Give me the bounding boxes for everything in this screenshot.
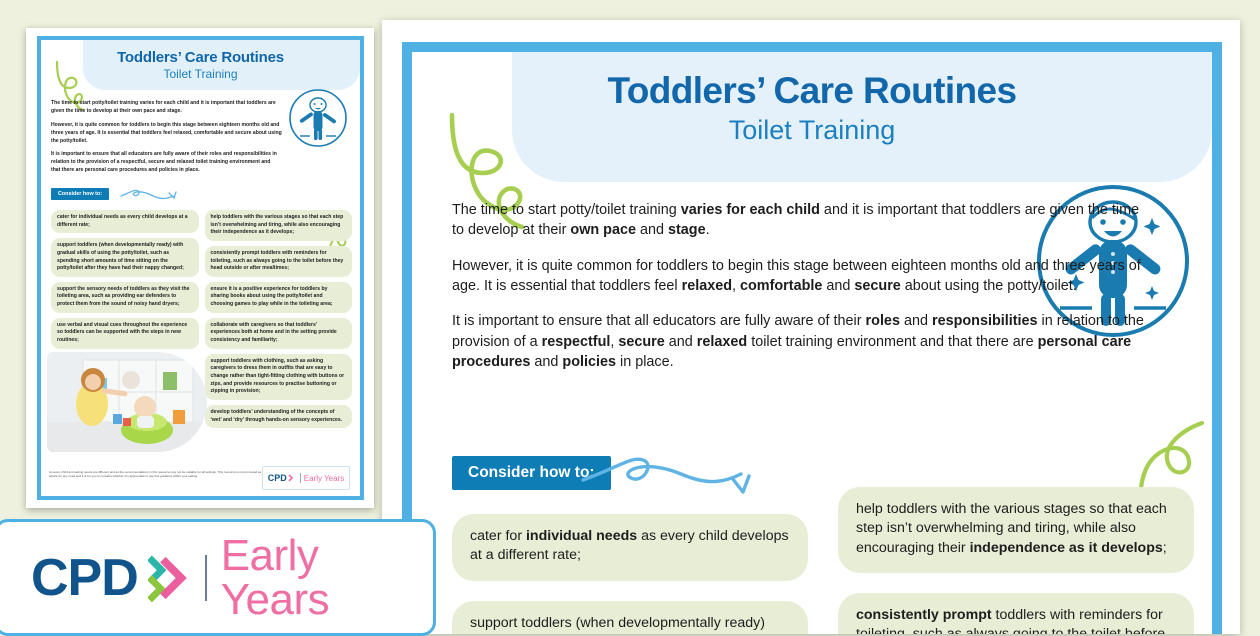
consider-card: support toddlers (when developmentally r… <box>452 601 808 634</box>
consider-card: cater for individual needs as every chil… <box>452 514 808 581</box>
consider-card: consistently prompt toddlers with remind… <box>205 246 353 277</box>
cards-columns: cater for individual needs as every chil… <box>452 514 1194 634</box>
body-text: The time to start potty/toilet training … <box>452 200 1142 387</box>
logo-early-years-text: Early Years <box>221 534 433 622</box>
thumbnail-logo-ey: Early Years <box>304 474 344 483</box>
thumbnail-disclaimer: As every child and setting needs are dif… <box>49 470 269 479</box>
thumbnail-body-text: The time to start potty/toilet training … <box>51 100 287 181</box>
consider-card: support toddlers with clothing, such as … <box>205 354 353 400</box>
chevron-logo-icon <box>148 552 195 604</box>
chevron-logo-icon <box>287 473 297 483</box>
document-thumbnail-panel[interactable]: Toddlers’ Care Routines Toilet Training … <box>26 28 374 508</box>
paragraph-3: It is important to ensure that all educa… <box>452 311 1164 372</box>
consider-card: help toddlers with the various stages so… <box>838 487 1194 573</box>
cpd-early-years-logo[interactable]: CPD Early Years <box>0 519 436 636</box>
thumbnail-page: Toddlers’ Care Routines Toilet Training … <box>37 36 364 500</box>
consider-card: use verbal and visual cues throughout th… <box>51 318 199 349</box>
consider-card: cater for individual needs as every chil… <box>51 210 199 233</box>
document-page-frame: Toddlers’ Care Routines Toilet Training <box>402 42 1222 634</box>
thumbnail-consider-badge: Consider how to: <box>51 188 109 200</box>
thumbnail-paragraph-2: However, it is quite common for toddlers… <box>51 122 287 146</box>
paragraph-1: The time to start potty/toilet training … <box>452 200 1142 241</box>
consider-card: consistently prompt toddlers with remind… <box>838 593 1194 634</box>
thumbnail-logo-divider <box>300 473 301 483</box>
thumbnail-logo-cpd: CPD <box>268 473 287 483</box>
consider-card: develop toddlers’ understanding of the c… <box>205 405 353 428</box>
logo-divider <box>205 555 207 601</box>
thumbnail-logo: CPD Early Years <box>262 466 350 490</box>
consider-card: help toddlers with the various stages so… <box>205 210 353 241</box>
cards-column-left: cater for individual needs as every chil… <box>452 514 808 634</box>
consider-card: support toddlers (when developmentally r… <box>51 238 199 277</box>
logo-cpd-text: CPD <box>31 552 138 604</box>
curly-arrow-icon <box>119 187 181 203</box>
page-title: Toddlers’ Care Routines <box>412 70 1212 112</box>
paragraph-2: However, it is quite common for toddlers… <box>452 256 1142 297</box>
thumbnail-footer: As every child and setting needs are dif… <box>49 466 352 490</box>
thumbnail-paragraph-3: It is important to ensure that all educa… <box>51 151 279 175</box>
consider-card: ensure it is a positive experience for t… <box>205 282 353 313</box>
consider-card: collaborate with caregivers so that todd… <box>205 318 353 349</box>
curly-arrow-icon <box>577 450 767 502</box>
thumbnail-cards-right: help toddlers with the various stages so… <box>205 210 353 428</box>
toddler-with-potty-photo <box>47 352 207 452</box>
cards-column-right: help toddlers with the various stages so… <box>838 487 1194 634</box>
consider-card: support the sensory needs of toddlers as… <box>51 282 199 313</box>
child-arms-raised-icon <box>288 88 348 148</box>
main-document[interactable]: Toddlers’ Care Routines Toilet Training <box>382 20 1240 634</box>
thumbnail-paragraph-1: The time to start potty/toilet training … <box>51 100 287 116</box>
